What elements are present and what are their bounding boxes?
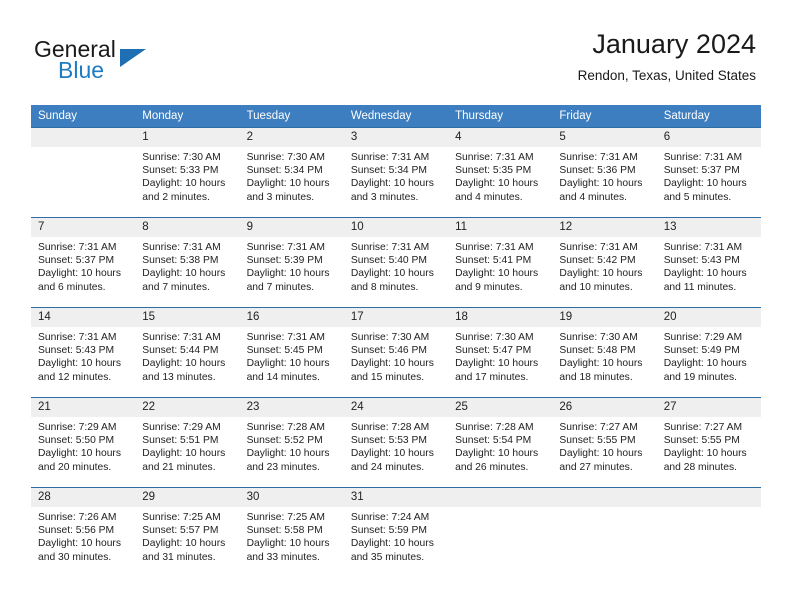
daylight-text-line2: and 24 minutes. [351,461,442,474]
day-number: 26 [552,398,656,417]
day-number: 13 [657,218,761,237]
day-details: Sunrise: 7:30 AMSunset: 5:47 PMDaylight:… [448,327,552,384]
calendar-week-row: 28Sunrise: 7:26 AMSunset: 5:56 PMDayligh… [31,488,761,578]
daylight-text-line2: and 3 minutes. [351,191,442,204]
sunrise-text: Sunrise: 7:31 AM [247,241,338,254]
daylight-text-line1: Daylight: 10 hours [38,267,129,280]
day-number: 7 [31,218,135,237]
sunset-text: Sunset: 5:40 PM [351,254,442,267]
sunrise-text: Sunrise: 7:31 AM [559,151,650,164]
sunset-text: Sunset: 5:37 PM [664,164,755,177]
general-blue-logo[interactable]: General Blue [34,36,234,88]
day-number: 15 [135,308,239,327]
sunrise-text: Sunrise: 7:24 AM [351,511,442,524]
day-number: 14 [31,308,135,327]
day-number: 2 [240,128,344,147]
sunrise-text: Sunrise: 7:28 AM [455,421,546,434]
sunset-text: Sunset: 5:55 PM [664,434,755,447]
sunset-text: Sunset: 5:38 PM [142,254,233,267]
day-details: Sunrise: 7:31 AMSunset: 5:44 PMDaylight:… [135,327,239,384]
calendar-day-cell[interactable]: 8Sunrise: 7:31 AMSunset: 5:38 PMDaylight… [135,218,239,308]
day-number: 4 [448,128,552,147]
calendar-grid: Sunday Monday Tuesday Wednesday Thursday… [31,105,761,578]
day-number: 12 [552,218,656,237]
daylight-text-line2: and 31 minutes. [142,551,233,564]
daylight-text-line2: and 13 minutes. [142,371,233,384]
sunrise-text: Sunrise: 7:31 AM [142,331,233,344]
daylight-text-line2: and 23 minutes. [247,461,338,474]
calendar-day-cell[interactable]: 28Sunrise: 7:26 AMSunset: 5:56 PMDayligh… [31,488,135,578]
calendar-day-cell[interactable]: 15Sunrise: 7:31 AMSunset: 5:44 PMDayligh… [135,308,239,398]
daylight-text-line1: Daylight: 10 hours [351,537,442,550]
day-details: Sunrise: 7:31 AMSunset: 5:35 PMDaylight:… [448,147,552,204]
sunset-text: Sunset: 5:45 PM [247,344,338,357]
daylight-text-line2: and 5 minutes. [664,191,755,204]
sunset-text: Sunset: 5:39 PM [247,254,338,267]
daylight-text-line1: Daylight: 10 hours [142,447,233,460]
daylight-text-line2: and 9 minutes. [455,281,546,294]
day-details: Sunrise: 7:29 AMSunset: 5:51 PMDaylight:… [135,417,239,474]
daylight-text-line2: and 33 minutes. [247,551,338,564]
day-number: 20 [657,308,761,327]
calendar-week-row: 7Sunrise: 7:31 AMSunset: 5:37 PMDaylight… [31,218,761,308]
day-number: 18 [448,308,552,327]
calendar-day-cell[interactable]: 3Sunrise: 7:31 AMSunset: 5:34 PMDaylight… [344,128,448,218]
sunrise-text: Sunrise: 7:31 AM [664,151,755,164]
day-number [448,488,552,507]
sunset-text: Sunset: 5:34 PM [247,164,338,177]
sunset-text: Sunset: 5:48 PM [559,344,650,357]
sunrise-text: Sunrise: 7:30 AM [455,331,546,344]
daylight-text-line1: Daylight: 10 hours [559,177,650,190]
weekday-header-monday: Monday [135,105,239,128]
sunset-text: Sunset: 5:33 PM [142,164,233,177]
daylight-text-line1: Daylight: 10 hours [559,357,650,370]
day-details: Sunrise: 7:27 AMSunset: 5:55 PMDaylight:… [657,417,761,474]
sunset-text: Sunset: 5:59 PM [351,524,442,537]
day-details: Sunrise: 7:29 AMSunset: 5:50 PMDaylight:… [31,417,135,474]
daylight-text-line1: Daylight: 10 hours [664,177,755,190]
day-details: Sunrise: 7:25 AMSunset: 5:58 PMDaylight:… [240,507,344,564]
daylight-text-line1: Daylight: 10 hours [38,537,129,550]
calendar-day-cell[interactable]: 20Sunrise: 7:29 AMSunset: 5:49 PMDayligh… [657,308,761,398]
day-details: Sunrise: 7:30 AMSunset: 5:33 PMDaylight:… [135,147,239,204]
day-details: Sunrise: 7:28 AMSunset: 5:53 PMDaylight:… [344,417,448,474]
calendar-day-cell[interactable]: 6Sunrise: 7:31 AMSunset: 5:37 PMDaylight… [657,128,761,218]
calendar-page: General Blue January 2024 Rendon, Texas,… [0,0,792,612]
sunset-text: Sunset: 5:43 PM [664,254,755,267]
daylight-text-line1: Daylight: 10 hours [351,177,442,190]
day-number: 6 [657,128,761,147]
day-details: Sunrise: 7:31 AMSunset: 5:42 PMDaylight:… [552,237,656,294]
daylight-text-line1: Daylight: 10 hours [455,267,546,280]
sunrise-text: Sunrise: 7:29 AM [142,421,233,434]
sunrise-text: Sunrise: 7:27 AM [559,421,650,434]
day-number: 29 [135,488,239,507]
sunrise-text: Sunrise: 7:31 AM [559,241,650,254]
day-number: 25 [448,398,552,417]
sunrise-text: Sunrise: 7:31 AM [455,241,546,254]
daylight-text-line1: Daylight: 10 hours [559,267,650,280]
calendar-day-cell[interactable]: 2Sunrise: 7:30 AMSunset: 5:34 PMDaylight… [240,128,344,218]
calendar-day-cell[interactable]: 22Sunrise: 7:29 AMSunset: 5:51 PMDayligh… [135,398,239,488]
daylight-text-line1: Daylight: 10 hours [142,267,233,280]
calendar-day-cell-empty [552,488,656,578]
day-details: Sunrise: 7:31 AMSunset: 5:38 PMDaylight:… [135,237,239,294]
daylight-text-line1: Daylight: 10 hours [351,447,442,460]
sunrise-text: Sunrise: 7:31 AM [351,241,442,254]
daylight-text-line2: and 8 minutes. [351,281,442,294]
day-details: Sunrise: 7:31 AMSunset: 5:36 PMDaylight:… [552,147,656,204]
day-number: 5 [552,128,656,147]
sunrise-text: Sunrise: 7:25 AM [247,511,338,524]
calendar-day-cell[interactable]: 24Sunrise: 7:28 AMSunset: 5:53 PMDayligh… [344,398,448,488]
calendar-day-cell[interactable]: 18Sunrise: 7:30 AMSunset: 5:47 PMDayligh… [448,308,552,398]
sunset-text: Sunset: 5:55 PM [559,434,650,447]
sunset-text: Sunset: 5:42 PM [559,254,650,267]
daylight-text-line1: Daylight: 10 hours [247,357,338,370]
day-number: 16 [240,308,344,327]
sunrise-text: Sunrise: 7:31 AM [664,241,755,254]
sunset-text: Sunset: 5:52 PM [247,434,338,447]
daylight-text-line1: Daylight: 10 hours [142,537,233,550]
day-details: Sunrise: 7:31 AMSunset: 5:40 PMDaylight:… [344,237,448,294]
daylight-text-line2: and 20 minutes. [38,461,129,474]
sunset-text: Sunset: 5:37 PM [38,254,129,267]
day-details: Sunrise: 7:29 AMSunset: 5:49 PMDaylight:… [657,327,761,384]
sunset-text: Sunset: 5:53 PM [351,434,442,447]
daylight-text-line1: Daylight: 10 hours [142,177,233,190]
daylight-text-line2: and 2 minutes. [142,191,233,204]
calendar-day-cell[interactable]: 5Sunrise: 7:31 AMSunset: 5:36 PMDaylight… [552,128,656,218]
day-details: Sunrise: 7:30 AMSunset: 5:48 PMDaylight:… [552,327,656,384]
daylight-text-line1: Daylight: 10 hours [455,357,546,370]
day-number: 8 [135,218,239,237]
daylight-text-line1: Daylight: 10 hours [351,357,442,370]
daylight-text-line1: Daylight: 10 hours [142,357,233,370]
sunrise-text: Sunrise: 7:31 AM [38,241,129,254]
sunrise-text: Sunrise: 7:30 AM [351,331,442,344]
day-details: Sunrise: 7:31 AMSunset: 5:34 PMDaylight:… [344,147,448,204]
day-number: 3 [344,128,448,147]
day-number: 30 [240,488,344,507]
logo-text-blue: Blue [58,57,104,84]
sunrise-text: Sunrise: 7:29 AM [38,421,129,434]
daylight-text-line2: and 27 minutes. [559,461,650,474]
day-number [657,488,761,507]
day-details: Sunrise: 7:31 AMSunset: 5:43 PMDaylight:… [31,327,135,384]
weekday-header-wednesday: Wednesday [344,105,448,128]
day-details: Sunrise: 7:26 AMSunset: 5:56 PMDaylight:… [31,507,135,564]
calendar-day-cell[interactable]: 11Sunrise: 7:31 AMSunset: 5:41 PMDayligh… [448,218,552,308]
day-details: Sunrise: 7:31 AMSunset: 5:43 PMDaylight:… [657,237,761,294]
page-header: General Blue January 2024 Rendon, Texas,… [0,0,792,103]
sunset-text: Sunset: 5:54 PM [455,434,546,447]
daylight-text-line2: and 17 minutes. [455,371,546,384]
sunset-text: Sunset: 5:43 PM [38,344,129,357]
day-number: 31 [344,488,448,507]
calendar-day-cell[interactable]: 19Sunrise: 7:30 AMSunset: 5:48 PMDayligh… [552,308,656,398]
sunrise-text: Sunrise: 7:31 AM [142,241,233,254]
day-number: 1 [135,128,239,147]
calendar-day-cell[interactable]: 31Sunrise: 7:24 AMSunset: 5:59 PMDayligh… [344,488,448,578]
daylight-text-line1: Daylight: 10 hours [664,447,755,460]
calendar-week-row: 21Sunrise: 7:29 AMSunset: 5:50 PMDayligh… [31,398,761,488]
title-block: January 2024 Rendon, Texas, United State… [578,28,756,84]
daylight-text-line2: and 30 minutes. [38,551,129,564]
sunrise-text: Sunrise: 7:29 AM [664,331,755,344]
daylight-text-line2: and 7 minutes. [142,281,233,294]
day-details: Sunrise: 7:30 AMSunset: 5:46 PMDaylight:… [344,327,448,384]
calendar-day-cell[interactable]: 29Sunrise: 7:25 AMSunset: 5:57 PMDayligh… [135,488,239,578]
weekday-header-row: Sunday Monday Tuesday Wednesday Thursday… [31,105,761,128]
daylight-text-line2: and 18 minutes. [559,371,650,384]
daylight-text-line1: Daylight: 10 hours [351,267,442,280]
calendar-day-cell[interactable]: 1Sunrise: 7:30 AMSunset: 5:33 PMDaylight… [135,128,239,218]
day-number: 19 [552,308,656,327]
day-details: Sunrise: 7:28 AMSunset: 5:54 PMDaylight:… [448,417,552,474]
sunrise-text: Sunrise: 7:28 AM [351,421,442,434]
sunset-text: Sunset: 5:47 PM [455,344,546,357]
daylight-text-line2: and 26 minutes. [455,461,546,474]
day-details: Sunrise: 7:27 AMSunset: 5:55 PMDaylight:… [552,417,656,474]
sunset-text: Sunset: 5:41 PM [455,254,546,267]
day-number: 21 [31,398,135,417]
calendar-day-cell[interactable]: 17Sunrise: 7:30 AMSunset: 5:46 PMDayligh… [344,308,448,398]
sunrise-text: Sunrise: 7:30 AM [142,151,233,164]
daylight-text-line2: and 7 minutes. [247,281,338,294]
daylight-text-line1: Daylight: 10 hours [247,537,338,550]
sunrise-text: Sunrise: 7:26 AM [38,511,129,524]
calendar-day-cell-empty [657,488,761,578]
calendar-day-cell[interactable]: 12Sunrise: 7:31 AMSunset: 5:42 PMDayligh… [552,218,656,308]
calendar-day-cell[interactable]: 21Sunrise: 7:29 AMSunset: 5:50 PMDayligh… [31,398,135,488]
sunset-text: Sunset: 5:36 PM [559,164,650,177]
daylight-text-line1: Daylight: 10 hours [455,447,546,460]
calendar-day-cell[interactable]: 23Sunrise: 7:28 AMSunset: 5:52 PMDayligh… [240,398,344,488]
calendar-day-cell[interactable]: 13Sunrise: 7:31 AMSunset: 5:43 PMDayligh… [657,218,761,308]
sunrise-text: Sunrise: 7:28 AM [247,421,338,434]
daylight-text-line2: and 11 minutes. [664,281,755,294]
sunrise-text: Sunrise: 7:31 AM [247,331,338,344]
daylight-text-line2: and 6 minutes. [38,281,129,294]
day-details: Sunrise: 7:25 AMSunset: 5:57 PMDaylight:… [135,507,239,564]
calendar-day-cell[interactable]: 7Sunrise: 7:31 AMSunset: 5:37 PMDaylight… [31,218,135,308]
day-details: Sunrise: 7:30 AMSunset: 5:34 PMDaylight:… [240,147,344,204]
calendar-day-cell[interactable]: 14Sunrise: 7:31 AMSunset: 5:43 PMDayligh… [31,308,135,398]
calendar-week-row: 1Sunrise: 7:30 AMSunset: 5:33 PMDaylight… [31,128,761,218]
calendar-day-cell[interactable]: 16Sunrise: 7:31 AMSunset: 5:45 PMDayligh… [240,308,344,398]
calendar-day-cell-empty [448,488,552,578]
sunset-text: Sunset: 5:35 PM [455,164,546,177]
calendar-day-cell[interactable]: 30Sunrise: 7:25 AMSunset: 5:58 PMDayligh… [240,488,344,578]
daylight-text-line1: Daylight: 10 hours [455,177,546,190]
sunset-text: Sunset: 5:49 PM [664,344,755,357]
daylight-text-line2: and 21 minutes. [142,461,233,474]
daylight-text-line2: and 12 minutes. [38,371,129,384]
daylight-text-line1: Daylight: 10 hours [38,357,129,370]
weekday-header-friday: Friday [552,105,656,128]
sunset-text: Sunset: 5:56 PM [38,524,129,537]
weekday-header-thursday: Thursday [448,105,552,128]
day-number: 28 [31,488,135,507]
daylight-text-line2: and 4 minutes. [559,191,650,204]
day-number [552,488,656,507]
sunrise-text: Sunrise: 7:31 AM [38,331,129,344]
day-details: Sunrise: 7:31 AMSunset: 5:37 PMDaylight:… [31,237,135,294]
day-number: 10 [344,218,448,237]
calendar-day-cell[interactable]: 10Sunrise: 7:31 AMSunset: 5:40 PMDayligh… [344,218,448,308]
daylight-text-line2: and 19 minutes. [664,371,755,384]
daylight-text-line1: Daylight: 10 hours [664,267,755,280]
daylight-text-line2: and 15 minutes. [351,371,442,384]
daylight-text-line1: Daylight: 10 hours [247,447,338,460]
daylight-text-line1: Daylight: 10 hours [559,447,650,460]
logo-triangle-icon [120,49,146,67]
calendar-week-row: 14Sunrise: 7:31 AMSunset: 5:43 PMDayligh… [31,308,761,398]
day-number: 27 [657,398,761,417]
sunrise-text: Sunrise: 7:31 AM [455,151,546,164]
calendar-day-cell-empty [31,128,135,218]
calendar-day-cell[interactable]: 25Sunrise: 7:28 AMSunset: 5:54 PMDayligh… [448,398,552,488]
sunrise-text: Sunrise: 7:31 AM [351,151,442,164]
day-details: Sunrise: 7:31 AMSunset: 5:45 PMDaylight:… [240,327,344,384]
day-number: 22 [135,398,239,417]
daylight-text-line1: Daylight: 10 hours [38,447,129,460]
daylight-text-line2: and 14 minutes. [247,371,338,384]
day-details: Sunrise: 7:31 AMSunset: 5:41 PMDaylight:… [448,237,552,294]
sunset-text: Sunset: 5:44 PM [142,344,233,357]
day-number: 23 [240,398,344,417]
daylight-text-line2: and 3 minutes. [247,191,338,204]
day-number [31,128,135,147]
sunrise-text: Sunrise: 7:27 AM [664,421,755,434]
sunrise-text: Sunrise: 7:30 AM [247,151,338,164]
day-number: 9 [240,218,344,237]
daylight-text-line2: and 28 minutes. [664,461,755,474]
sunset-text: Sunset: 5:34 PM [351,164,442,177]
daylight-text-line1: Daylight: 10 hours [247,177,338,190]
day-details: Sunrise: 7:28 AMSunset: 5:52 PMDaylight:… [240,417,344,474]
sunset-text: Sunset: 5:58 PM [247,524,338,537]
calendar-day-cell[interactable]: 26Sunrise: 7:27 AMSunset: 5:55 PMDayligh… [552,398,656,488]
sunset-text: Sunset: 5:46 PM [351,344,442,357]
day-number: 17 [344,308,448,327]
sunset-text: Sunset: 5:50 PM [38,434,129,447]
day-number: 24 [344,398,448,417]
day-number: 11 [448,218,552,237]
daylight-text-line2: and 35 minutes. [351,551,442,564]
page-subtitle: Rendon, Texas, United States [578,67,756,84]
calendar-day-cell[interactable]: 9Sunrise: 7:31 AMSunset: 5:39 PMDaylight… [240,218,344,308]
weekday-header-sunday: Sunday [31,105,135,128]
weekday-header-saturday: Saturday [657,105,761,128]
day-details: Sunrise: 7:24 AMSunset: 5:59 PMDaylight:… [344,507,448,564]
daylight-text-line1: Daylight: 10 hours [664,357,755,370]
sunset-text: Sunset: 5:57 PM [142,524,233,537]
sunrise-text: Sunrise: 7:30 AM [559,331,650,344]
calendar-day-cell[interactable]: 4Sunrise: 7:31 AMSunset: 5:35 PMDaylight… [448,128,552,218]
calendar-day-cell[interactable]: 27Sunrise: 7:27 AMSunset: 5:55 PMDayligh… [657,398,761,488]
sunset-text: Sunset: 5:51 PM [142,434,233,447]
weekday-header-tuesday: Tuesday [240,105,344,128]
calendar-body: 1Sunrise: 7:30 AMSunset: 5:33 PMDaylight… [31,128,761,578]
daylight-text-line1: Daylight: 10 hours [247,267,338,280]
daylight-text-line2: and 4 minutes. [455,191,546,204]
page-title: January 2024 [578,28,756,60]
day-details: Sunrise: 7:31 AMSunset: 5:37 PMDaylight:… [657,147,761,204]
sunrise-text: Sunrise: 7:25 AM [142,511,233,524]
day-details: Sunrise: 7:31 AMSunset: 5:39 PMDaylight:… [240,237,344,294]
daylight-text-line2: and 10 minutes. [559,281,650,294]
